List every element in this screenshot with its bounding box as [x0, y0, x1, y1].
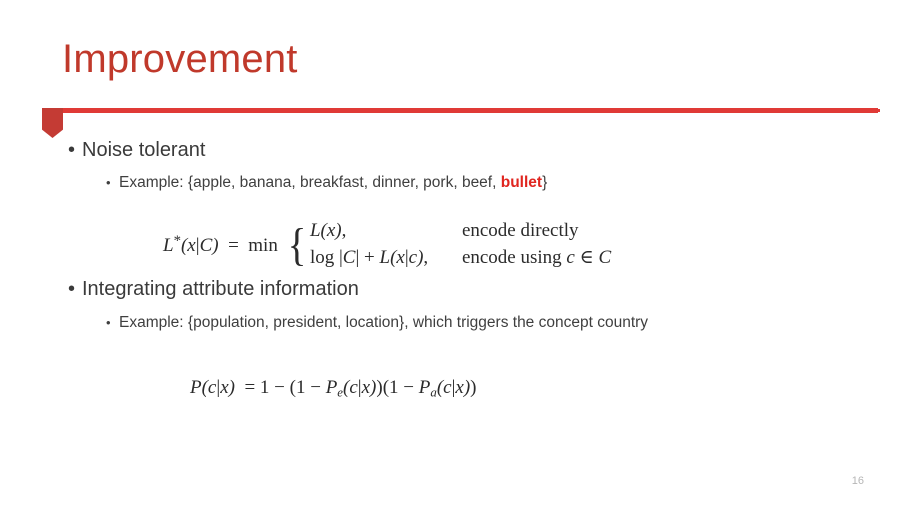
sub-bullet-dot-icon: • — [106, 313, 111, 333]
formula-case-row-2: log |C| + L(x|c), encode using c ∈ C — [310, 245, 611, 272]
bullet-level2-example-attributes: • Example: {population, president, locat… — [0, 313, 900, 333]
sub-bullet-text-prefix: Example: {apple, banana, breakfast, dinn… — [119, 174, 501, 191]
sub-bullet-text-suffix: } — [542, 174, 547, 191]
case-expression: L(x), — [310, 218, 462, 245]
formula-encoding-length: L*(x|C) = min { L(x), encode directly lo… — [163, 218, 611, 272]
bullet-level1-label: Integrating attribute information — [82, 278, 359, 300]
bullet-level1-noise-tolerant: • Noise tolerant — [0, 138, 900, 163]
bullet-dot-icon: • — [68, 277, 75, 302]
bullet-dot-icon: • — [68, 138, 75, 163]
bullet-level1-integrating-attributes: • Integrating attribute information — [0, 277, 900, 302]
sub-bullet-highlight-word: bullet — [501, 174, 542, 191]
case-description: encode directly — [462, 218, 579, 245]
bullet-level1-label: Noise tolerant — [82, 139, 205, 161]
case-expression: log |C| + L(x|c), — [310, 245, 462, 272]
case-description: encode using c ∈ C — [462, 245, 611, 272]
formula-probability-combination: P(c|x) = 1 − (1 − Pe(c|x))(1 − Pa(c|x)) — [190, 377, 476, 401]
formula-case-row-1: L(x), encode directly — [310, 218, 611, 245]
sub-bullet-text: Example: {population, president, locatio… — [119, 314, 648, 331]
left-brace-glyph: { — [286, 226, 308, 264]
bullet-level2-example-foods: • Example: {apple, banana, breakfast, di… — [0, 173, 900, 193]
sub-bullet-dot-icon: • — [106, 173, 111, 193]
formula-cases: L(x), encode directly log |C| + L(x|c), … — [310, 218, 611, 272]
formula-lhs: L*(x|C) = min — [163, 233, 284, 257]
page-title: Improvement — [62, 36, 298, 82]
slide: Improvement • Noise tolerant • Example: … — [0, 0, 900, 505]
divider-line — [42, 108, 878, 113]
page-number: 16 — [852, 475, 864, 487]
